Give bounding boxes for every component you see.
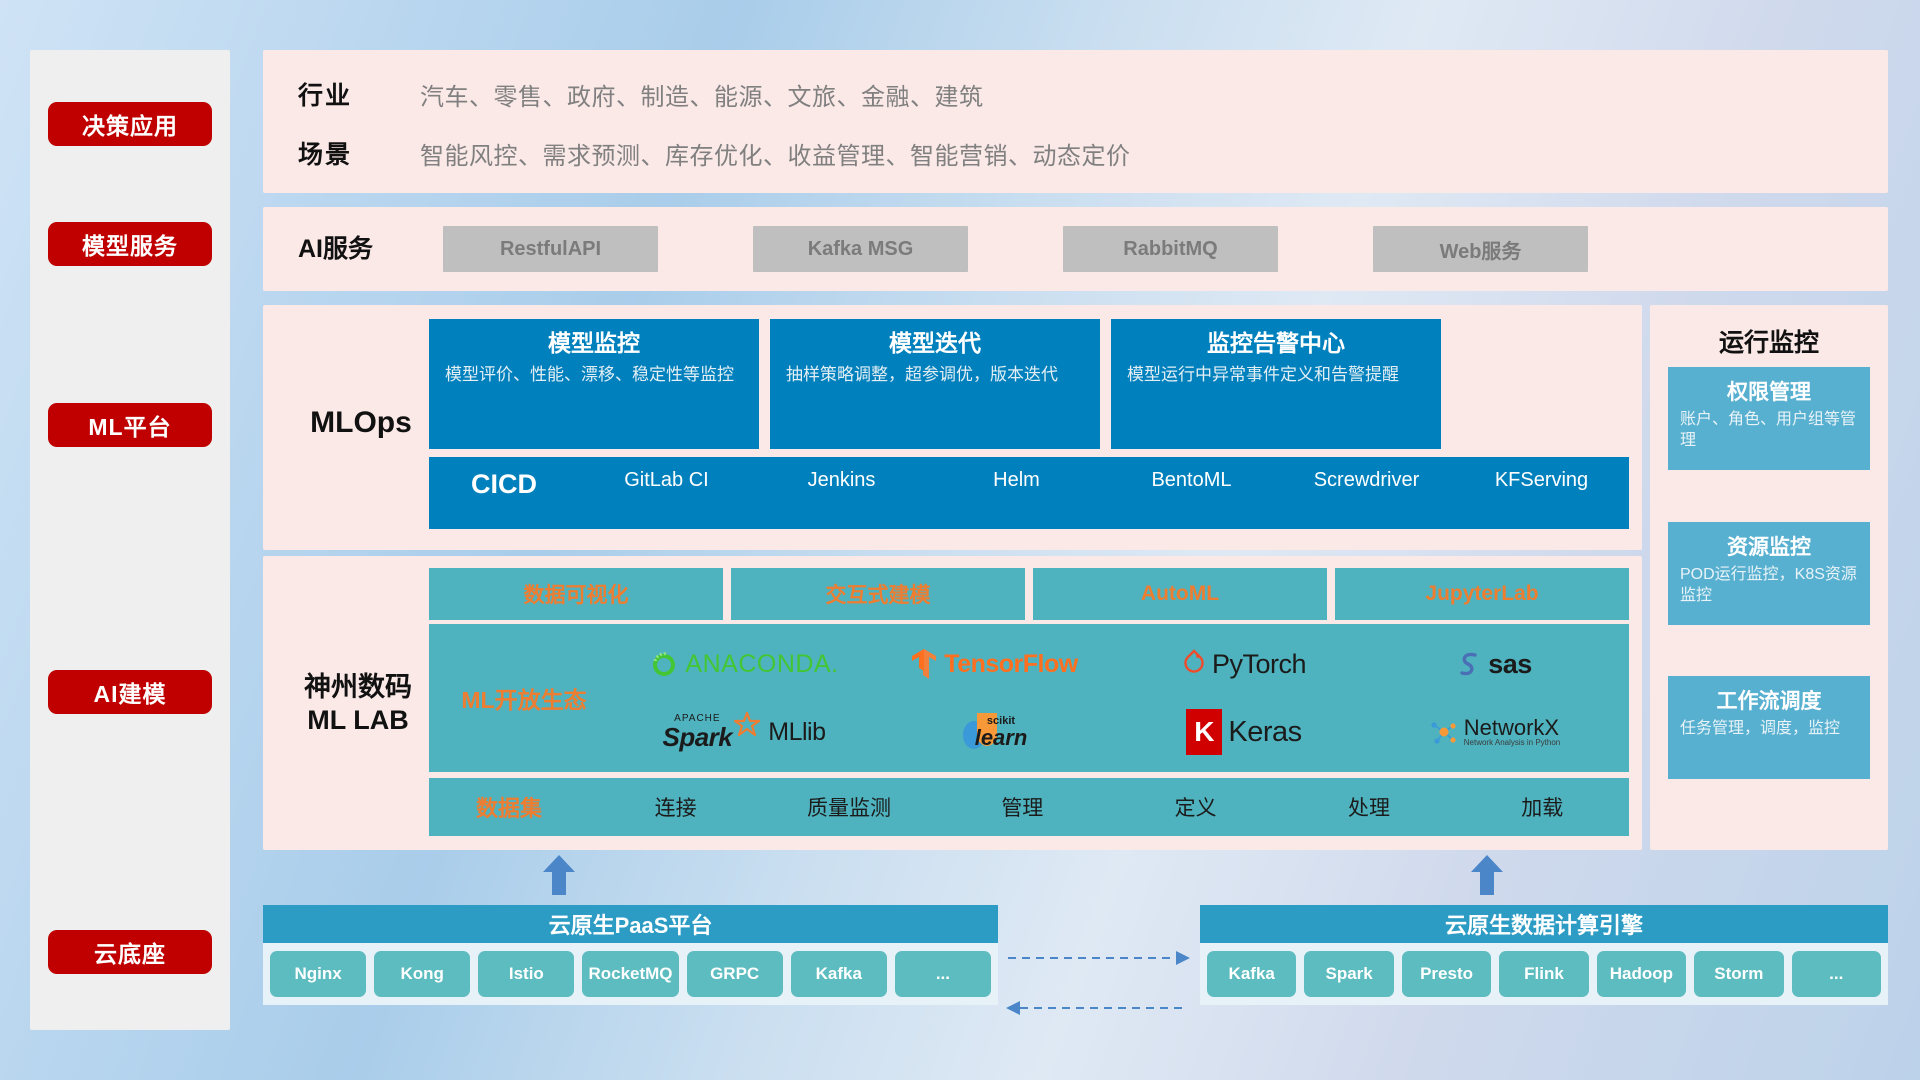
- ml-lab-tab-automl[interactable]: AutoML: [1033, 568, 1327, 620]
- scikit-learn-logo: scikit learn: [961, 709, 1028, 755]
- rail-label: ML平台: [88, 408, 171, 442]
- data-engine-chip-kafka[interactable]: Kafka: [1207, 951, 1296, 997]
- card-title: 资源监控: [1680, 531, 1858, 561]
- cloud-base-data-engine: 云原生数据计算引擎 Kafka Spark Presto Flink Hadoo…: [1200, 905, 1888, 1005]
- ml-lab-tab-interactive-modeling[interactable]: 交互式建模: [731, 568, 1025, 620]
- industry-row: 行业 汽车、零售、政府、制造、能源、文旅、金融、建筑: [298, 76, 1858, 112]
- mlops-label: MLOps: [291, 405, 431, 442]
- arrow-up-data-engine: [1470, 855, 1504, 895]
- data-engine-chip-hadoop[interactable]: Hadoop: [1597, 951, 1686, 997]
- tensorflow-logo: TensorFlow: [910, 648, 1077, 680]
- cicd-item-jenkins[interactable]: Jenkins: [754, 469, 929, 492]
- paas-title: 云原生PaaS平台: [263, 905, 998, 943]
- dataset-item-process[interactable]: 处理: [1282, 792, 1455, 822]
- networkx-tagline: Network Analysis in Python: [1464, 739, 1561, 747]
- paas-chip-more[interactable]: ...: [895, 951, 991, 997]
- ml-lab-tab-jupyterlab[interactable]: JupyterLab: [1335, 568, 1629, 620]
- paas-chip-kafka[interactable]: Kafka: [791, 951, 887, 997]
- chip-label: Nginx: [294, 965, 341, 983]
- chip-label: Kafka MSG: [808, 238, 914, 261]
- ai-service-chip-rabbitmq[interactable]: RabbitMQ: [1063, 226, 1278, 272]
- tab-label: AutoML: [1141, 582, 1219, 606]
- chip-label: Kong: [400, 965, 443, 983]
- rail-item-cloud-base[interactable]: 云底座: [48, 930, 212, 974]
- left-rail: 决策应用 模型服务 ML平台 AI建模 云底座: [30, 50, 230, 1030]
- scenario-key: 场景: [298, 135, 376, 171]
- decision-app-band: 行业 汽车、零售、政府、制造、能源、文旅、金融、建筑 场景 智能风控、需求预测、…: [263, 50, 1888, 193]
- ml-lab-label-line2: ML LAB: [283, 704, 433, 737]
- card-desc: POD运行监控，K8S资源监控: [1680, 565, 1858, 607]
- ml-lab-label-line1: 神州数码: [283, 671, 433, 704]
- arrow-up-paas: [542, 855, 576, 895]
- cicd-title: CICD: [429, 469, 579, 500]
- networkx-wordmark: NetworkX: [1464, 717, 1561, 739]
- keras-mark: K: [1194, 716, 1214, 748]
- mllib-wordmark: MLlib: [768, 718, 825, 747]
- cicd-item-bentoml[interactable]: BentoML: [1104, 469, 1279, 492]
- cicd-item-helm[interactable]: Helm: [929, 469, 1104, 492]
- dashed-connectors: [998, 940, 1198, 1030]
- dataset-item-define[interactable]: 定义: [1109, 792, 1282, 822]
- pytorch-logo: PyTorch: [1182, 649, 1306, 680]
- keras-wordmark: Keras: [1228, 716, 1301, 749]
- cicd-item-gitlab-ci[interactable]: GitLab CI: [579, 469, 754, 492]
- rail-item-decision-app[interactable]: 决策应用: [48, 102, 212, 146]
- card-desc: 账户、角色、用户组等管理: [1680, 410, 1858, 452]
- chip-label: RocketMQ: [588, 965, 672, 983]
- card-desc: 模型运行中异常事件定义和告警提醒: [1127, 364, 1425, 387]
- cicd-item-kfserving[interactable]: KFServing: [1454, 469, 1629, 492]
- spark-wordmark: Spark: [662, 724, 732, 750]
- card-desc: 抽样策略调整，超参调优，版本迭代: [786, 364, 1084, 387]
- dataset-bar: 数据集 连接 质量监测 管理 定义 处理 加载: [429, 778, 1629, 836]
- card-title: 模型监控: [445, 331, 743, 356]
- chip-label: Flink: [1524, 965, 1564, 983]
- tab-label: 交互式建模: [826, 579, 931, 609]
- paas-chip-grpc[interactable]: GRPC: [687, 951, 783, 997]
- tab-label: JupyterLab: [1425, 582, 1538, 606]
- rail-label: 决策应用: [82, 107, 178, 141]
- run-monitor-card-workflow[interactable]: 工作流调度 任务管理，调度，监控: [1668, 676, 1870, 779]
- paas-chip-nginx[interactable]: Nginx: [270, 951, 366, 997]
- pytorch-wordmark: PyTorch: [1212, 649, 1306, 680]
- paas-chip-row: Nginx Kong Istio RocketMQ GRPC Kafka ...: [263, 943, 998, 1005]
- ml-lab-tab-data-visualization[interactable]: 数据可视化: [429, 568, 723, 620]
- chip-label: Hadoop: [1610, 965, 1673, 983]
- dataset-title: 数据集: [429, 791, 589, 823]
- keras-logo: K Keras: [1186, 709, 1301, 755]
- mlops-band: MLOps 模型监控 模型评价、性能、漂移、稳定性等监控 模型迭代 抽样策略调整…: [263, 305, 1642, 550]
- card-desc: 任务管理，调度，监控: [1680, 719, 1858, 740]
- card-desc: 模型评价、性能、漂移、稳定性等监控: [445, 364, 743, 387]
- eco-label: ML开放生态: [429, 681, 619, 715]
- data-engine-chip-more[interactable]: ...: [1792, 951, 1881, 997]
- card-title: 权限管理: [1680, 376, 1858, 406]
- rail-label: AI建模: [94, 675, 167, 709]
- run-monitor-card-resource[interactable]: 资源监控 POD运行监控，K8S资源监控: [1668, 522, 1870, 625]
- scenario-value: 智能风控、需求预测、库存优化、收益管理、智能营销、动态定价: [420, 136, 1131, 171]
- data-engine-title: 云原生数据计算引擎: [1200, 905, 1888, 943]
- chip-label: Web服务: [1440, 235, 1522, 264]
- ai-service-chip-web-service[interactable]: Web服务: [1373, 226, 1588, 272]
- chip-label: RabbitMQ: [1123, 238, 1217, 261]
- sas-wordmark: sas: [1488, 649, 1532, 680]
- anaconda-wordmark: ANACONDA.: [685, 650, 838, 679]
- rail-label: 云底座: [94, 935, 166, 969]
- ml-lab-band: 神州数码 ML LAB 数据可视化 交互式建模 AutoML JupyterLa…: [263, 556, 1642, 850]
- run-monitor-title: 运行监控: [1650, 323, 1888, 359]
- chip-label: ...: [936, 965, 950, 983]
- rail-label: 模型服务: [82, 227, 178, 261]
- paas-chip-kong[interactable]: Kong: [374, 951, 470, 997]
- ai-service-label: AI服务: [298, 234, 418, 265]
- ai-service-chip-restfulapi[interactable]: RestfulAPI: [443, 226, 658, 272]
- learn-word: learn: [975, 727, 1028, 749]
- paas-chip-rocketmq[interactable]: RocketMQ: [582, 951, 678, 997]
- chip-label: Presto: [1420, 965, 1473, 983]
- chip-label: Kafka: [816, 965, 862, 983]
- card-title: 工作流调度: [1680, 685, 1858, 715]
- run-monitor-card-permission[interactable]: 权限管理 账户、角色、用户组等管理: [1668, 367, 1870, 470]
- chip-label: Istio: [509, 965, 544, 983]
- anaconda-logo: ANACONDA.: [649, 649, 838, 679]
- chip-label: Kafka: [1229, 965, 1275, 983]
- chip-label: RestfulAPI: [500, 238, 601, 261]
- cloud-base-paas: 云原生PaaS平台 Nginx Kong Istio RocketMQ GRPC…: [263, 905, 998, 1005]
- card-title: 监控告警中心: [1127, 331, 1425, 356]
- tab-label: 数据可视化: [524, 579, 629, 609]
- mlops-card-model-iteration[interactable]: 模型迭代 抽样策略调整，超参调优，版本迭代: [770, 319, 1100, 449]
- ml-open-ecosystem: ML开放生态 ANACONDA.: [429, 624, 1629, 772]
- card-title: 模型迭代: [786, 331, 1084, 356]
- data-engine-chip-spark[interactable]: Spark: [1304, 951, 1393, 997]
- mlops-card-alert-center[interactable]: 监控告警中心 模型运行中异常事件定义和告警提醒: [1111, 319, 1441, 449]
- chip-label: GRPC: [710, 965, 759, 983]
- data-engine-chip-flink[interactable]: Flink: [1499, 951, 1588, 997]
- run-monitor-band: 运行监控 权限管理 账户、角色、用户组等管理 资源监控 POD运行监控，K8S资…: [1650, 305, 1888, 850]
- chip-label: Spark: [1326, 965, 1373, 983]
- chip-label: ...: [1829, 965, 1843, 983]
- rail-item-ml-platform[interactable]: ML平台: [48, 403, 212, 447]
- industry-value: 汽车、零售、政府、制造、能源、文旅、金融、建筑: [420, 77, 984, 112]
- paas-chip-istio[interactable]: Istio: [478, 951, 574, 997]
- dataset-item-connect[interactable]: 连接: [589, 792, 762, 822]
- data-engine-chip-row: Kafka Spark Presto Flink Hadoop Storm ..…: [1200, 943, 1888, 1005]
- data-engine-chip-storm[interactable]: Storm: [1694, 951, 1783, 997]
- cicd-bar: CICD GitLab CI Jenkins Helm BentoML Scre…: [429, 457, 1629, 529]
- sas-logo: sas: [1456, 649, 1532, 680]
- ai-service-band: AI服务 RestfulAPI Kafka MSG RabbitMQ Web服务: [263, 207, 1888, 291]
- dataset-item-load[interactable]: 加载: [1456, 792, 1629, 822]
- ml-lab-label: 神州数码 ML LAB: [283, 671, 433, 737]
- ai-service-chip-kafka-msg[interactable]: Kafka MSG: [753, 226, 968, 272]
- spark-mllib-logo: APACHE Spark MLlib: [662, 714, 825, 750]
- industry-key: 行业: [298, 76, 376, 112]
- rail-item-ai-modeling[interactable]: AI建模: [48, 670, 212, 714]
- rail-item-model-service[interactable]: 模型服务: [48, 222, 212, 266]
- data-engine-chip-presto[interactable]: Presto: [1402, 951, 1491, 997]
- networkx-logo: NetworkX Network Analysis in Python: [1428, 717, 1561, 747]
- cicd-item-screwdriver[interactable]: Screwdriver: [1279, 469, 1454, 492]
- dataset-item-quality-monitoring[interactable]: 质量监测: [762, 792, 935, 822]
- chip-label: Storm: [1714, 965, 1763, 983]
- diagram-canvas: 决策应用 模型服务 ML平台 AI建模 云底座 行业 汽车、零售、政府、制造、能…: [0, 0, 1920, 1080]
- dataset-item-manage[interactable]: 管理: [936, 792, 1109, 822]
- scenario-row: 场景 智能风控、需求预测、库存优化、收益管理、智能营销、动态定价: [298, 135, 1858, 171]
- mlops-card-model-monitoring[interactable]: 模型监控 模型评价、性能、漂移、稳定性等监控: [429, 319, 759, 449]
- tensorflow-wordmark: TensorFlow: [944, 650, 1077, 679]
